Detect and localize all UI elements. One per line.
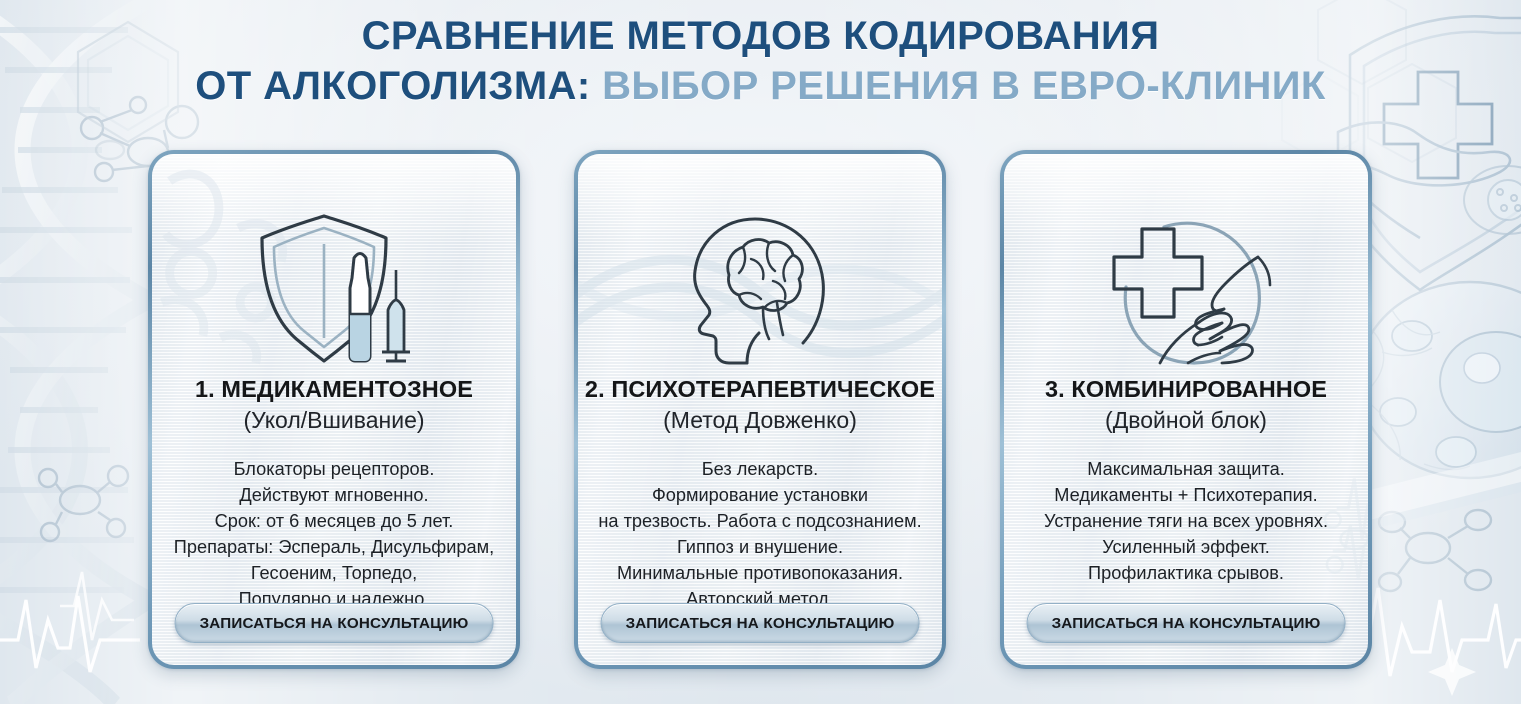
method-card-inner: 1. МЕДИКАМЕНТОЗНОЕ (Укол/Вшивание) Блока… (152, 154, 516, 665)
method-card-psychotherapy[interactable]: 2. ПСИХОТЕРАПЕВТИЧЕСКОЕ (Метод Довженко)… (574, 150, 946, 669)
card-subtitle: (Метод Довженко) (663, 407, 857, 434)
cell-biology-icon (1358, 282, 1521, 478)
card-title: 1. МЕДИКАМЕНТОЗНОЕ (195, 376, 473, 403)
page-title-line-2: ОТ АЛКОГОЛИЗМА: ВЫБОР РЕШЕНИЯ В ЕВРО-КЛИ… (0, 64, 1521, 110)
card-body-line: Максимальная защита. (1044, 456, 1328, 482)
card-body-line: Усиленный эффект. (1044, 534, 1328, 560)
cta-button-consultation[interactable]: ЗАПИСАТЬСЯ НА КОНСУЛЬТАЦИЮ (1027, 603, 1346, 643)
card-body-line: Действуют мгновенно. (174, 482, 494, 508)
cross-helping-hands-icon (1004, 210, 1368, 368)
card-body-line: Гиппоз и внушение. (598, 534, 921, 560)
card-body: Без лекарств. Формирование установки на … (590, 456, 929, 612)
card-body-line: Без лекарств. (598, 456, 921, 482)
page-title-line-2-prefix: ОТ АЛКОГОЛИЗМА: (195, 64, 602, 108)
card-body-line: Препараты: Эспераль, Дисульфирам, (174, 534, 494, 560)
card-body-line: Профилактика срывов. (1044, 560, 1328, 586)
card-body-line: Устранение тяги на всех уровнях. (1044, 508, 1328, 534)
card-body: Максимальная защита. Медикаменты + Психо… (1036, 456, 1336, 586)
card-title: 3. КОМБИНИРОВАННОЕ (1045, 376, 1327, 403)
card-body-line: Срок: от 6 месяцев до 5 лет. (174, 508, 494, 534)
card-body-line: Блокаторы рецепторов. (174, 456, 494, 482)
method-card-inner: 3. КОМБИНИРОВАННОЕ (Двойной блок) Максим… (1004, 154, 1368, 665)
card-subtitle: (Двойной блок) (1105, 407, 1267, 434)
head-brain-icon (578, 210, 942, 368)
method-card-inner: 2. ПСИХОТЕРАПЕВТИЧЕСКОЕ (Метод Довженко)… (578, 154, 942, 665)
shield-ampoule-syringe-icon (152, 210, 516, 368)
cta-button-consultation[interactable]: ЗАПИСАТЬСЯ НА КОНСУЛЬТАЦИЮ (175, 603, 494, 643)
card-body-line: Медикаменты + Психотерапия. (1044, 482, 1328, 508)
method-card-combined[interactable]: 3. КОМБИНИРОВАННОЕ (Двойной блок) Максим… (1000, 150, 1372, 669)
method-card-medication[interactable]: 1. МЕДИКАМЕНТОЗНОЕ (Укол/Вшивание) Блока… (148, 150, 520, 669)
card-body-line: Минимальные противопоказания. (598, 560, 921, 586)
card-body-line: Формирование установки (598, 482, 921, 508)
card-title: 2. ПСИХОТЕРАПЕВТИЧЕСКОЕ (585, 376, 935, 403)
star-sparkle-icon (1428, 648, 1476, 696)
card-body-line: Гесоеним, Торпедо, (174, 560, 494, 586)
method-cards-row: 1. МЕДИКАМЕНТОЗНОЕ (Укол/Вшивание) Блока… (148, 150, 1372, 670)
card-subtitle: (Укол/Вшивание) (243, 407, 424, 434)
card-body-line: на трезвость. Работа с подсознанием. (598, 508, 921, 534)
page-title-line-1: СРАВНЕНИЕ МЕТОДОВ КОДИРОВАНИЯ (0, 14, 1521, 60)
page-header: СРАВНЕНИЕ МЕТОДОВ КОДИРОВАНИЯ ОТ АЛКОГОЛ… (0, 14, 1521, 109)
page-title-line-2-accent: ВЫБОР РЕШЕНИЯ В ЕВРО-КЛИНИК (602, 64, 1326, 108)
card-body: Блокаторы рецепторов. Действуют мгновенн… (166, 456, 502, 612)
cta-button-consultation[interactable]: ЗАПИСАТЬСЯ НА КОНСУЛЬТАЦИЮ (601, 603, 920, 643)
